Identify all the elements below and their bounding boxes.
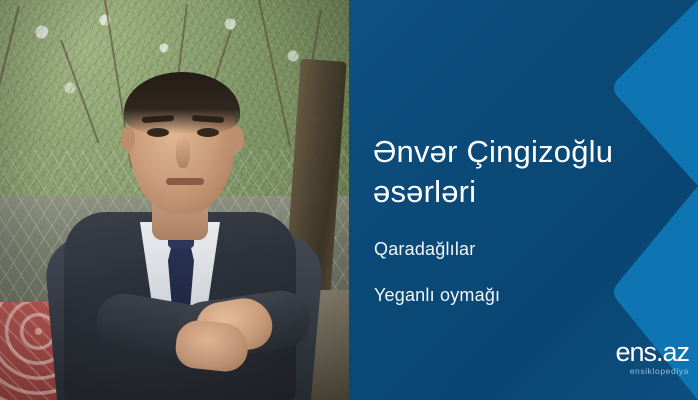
title-line-2: əsərləri (373, 172, 673, 212)
subtitle-item-1: Qaradağlılar (374, 226, 674, 272)
subject-photo (0, 0, 349, 400)
logo-tagline: ensiklopediya (583, 366, 689, 377)
banner-subtitles: Qaradağlılar Yeganlı oymağı (374, 226, 674, 318)
site-logo[interactable]: ens.az ensiklopediya (583, 338, 689, 382)
subtitle-item-2: Yeganlı oymağı (374, 272, 674, 318)
banner-title: Ənvər Çingizoğlu əsərləri (373, 132, 673, 212)
logo-wordmark: ens.az (583, 338, 689, 366)
title-panel: Ənvər Çingizoğlu əsərləri Qaradağlılar Y… (349, 0, 698, 400)
article-banner: Ənvər Çingizoğlu əsərləri Qaradağlılar Y… (0, 0, 698, 400)
photo-vignette (0, 0, 349, 400)
title-line-1: Ənvər Çingizoğlu (373, 132, 673, 172)
